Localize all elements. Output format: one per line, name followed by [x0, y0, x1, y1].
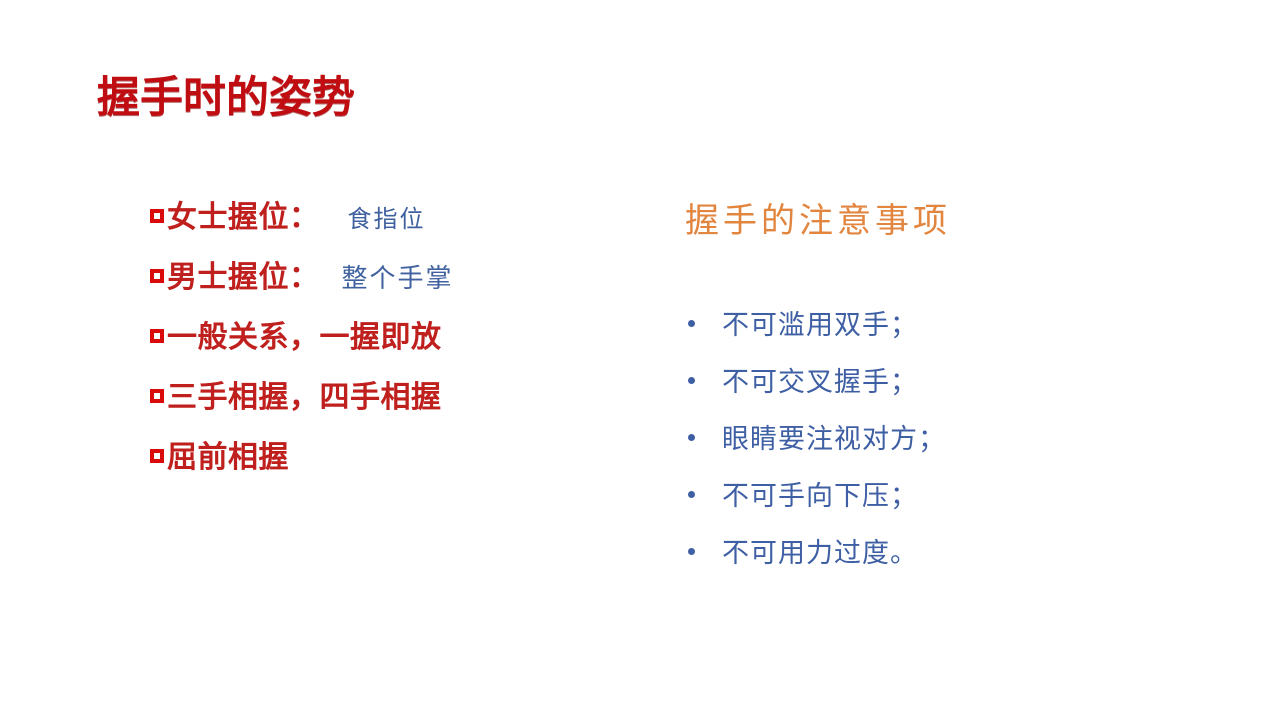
list-item: 不可手向下压； — [685, 483, 1225, 540]
list-item-label: 女士握位： — [167, 203, 320, 233]
list-item-label: 屈前相握 — [167, 443, 289, 473]
list-item-label: 不可交叉握手； — [722, 369, 918, 396]
section-heading: 握手的注意事项 — [685, 205, 1225, 239]
round-dot-bullet-icon — [688, 491, 695, 498]
page-title: 握手时的姿势 — [97, 74, 355, 123]
slide-canvas: 握手时的姿势 女士握位： 食指位 男士握位： 整个手掌 一般关系，一握即放 三手… — [0, 0, 1280, 720]
list-item: 不可用力过度。 — [685, 540, 1225, 597]
list-item-label: 男士握位： — [167, 263, 320, 293]
list-item: 不可滥用双手； — [685, 312, 1225, 369]
left-bullet-list: 女士握位： 食指位 男士握位： 整个手掌 一般关系，一握即放 三手相握，四手相握… — [150, 203, 620, 503]
list-item: 三手相握，四手相握 — [150, 383, 620, 443]
list-item-label: 眼睛要注视对方； — [722, 426, 946, 453]
list-item-value: 整个手掌 — [342, 266, 454, 292]
list-item-label: 不可滥用双手； — [722, 312, 918, 339]
list-item: 不可交叉握手； — [685, 369, 1225, 426]
hollow-square-bullet-icon — [150, 329, 164, 343]
round-dot-bullet-icon — [688, 434, 695, 441]
round-dot-bullet-icon — [688, 320, 695, 327]
round-dot-bullet-icon — [688, 548, 695, 555]
list-item: 男士握位： 整个手掌 — [150, 263, 620, 323]
right-bullet-list: 不可滥用双手； 不可交叉握手； 眼睛要注视对方； 不可手向下压； 不可用力过度。 — [685, 312, 1225, 597]
list-item-label: 不可用力过度。 — [722, 540, 918, 567]
list-item-label: 不可手向下压； — [722, 483, 918, 510]
list-item-label: 一般关系，一握即放 — [167, 323, 442, 353]
list-item-label: 三手相握，四手相握 — [167, 383, 442, 413]
list-item: 眼睛要注视对方； — [685, 426, 1225, 483]
round-dot-bullet-icon — [688, 377, 695, 384]
list-item: 一般关系，一握即放 — [150, 323, 620, 383]
list-item: 屈前相握 — [150, 443, 620, 503]
hollow-square-bullet-icon — [150, 269, 164, 283]
hollow-square-bullet-icon — [150, 209, 164, 223]
right-column: 握手的注意事项 不可滥用双手； 不可交叉握手； 眼睛要注视对方； 不可手向下压； — [685, 205, 1225, 597]
list-item: 女士握位： 食指位 — [150, 203, 620, 263]
list-item-value: 食指位 — [348, 208, 426, 232]
hollow-square-bullet-icon — [150, 449, 164, 463]
hollow-square-bullet-icon — [150, 389, 164, 403]
